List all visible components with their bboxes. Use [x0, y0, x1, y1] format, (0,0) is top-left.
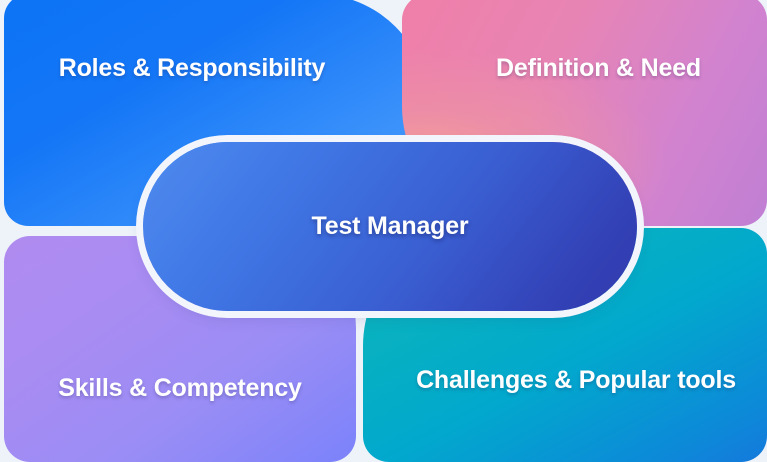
quadrant-roles-label: Roles & Responsibility	[59, 54, 326, 83]
concept-map-diagram: Roles & Responsibility Definition & Need…	[0, 0, 767, 462]
quadrant-challenges-label: Challenges & Popular tools	[416, 366, 736, 395]
center-node-test-manager[interactable]: Test Manager	[143, 142, 637, 311]
center-node-label: Test Manager	[312, 212, 469, 241]
quadrant-definition-label: Definition & Need	[496, 54, 701, 83]
quadrant-skills-label: Skills & Competency	[58, 374, 302, 403]
